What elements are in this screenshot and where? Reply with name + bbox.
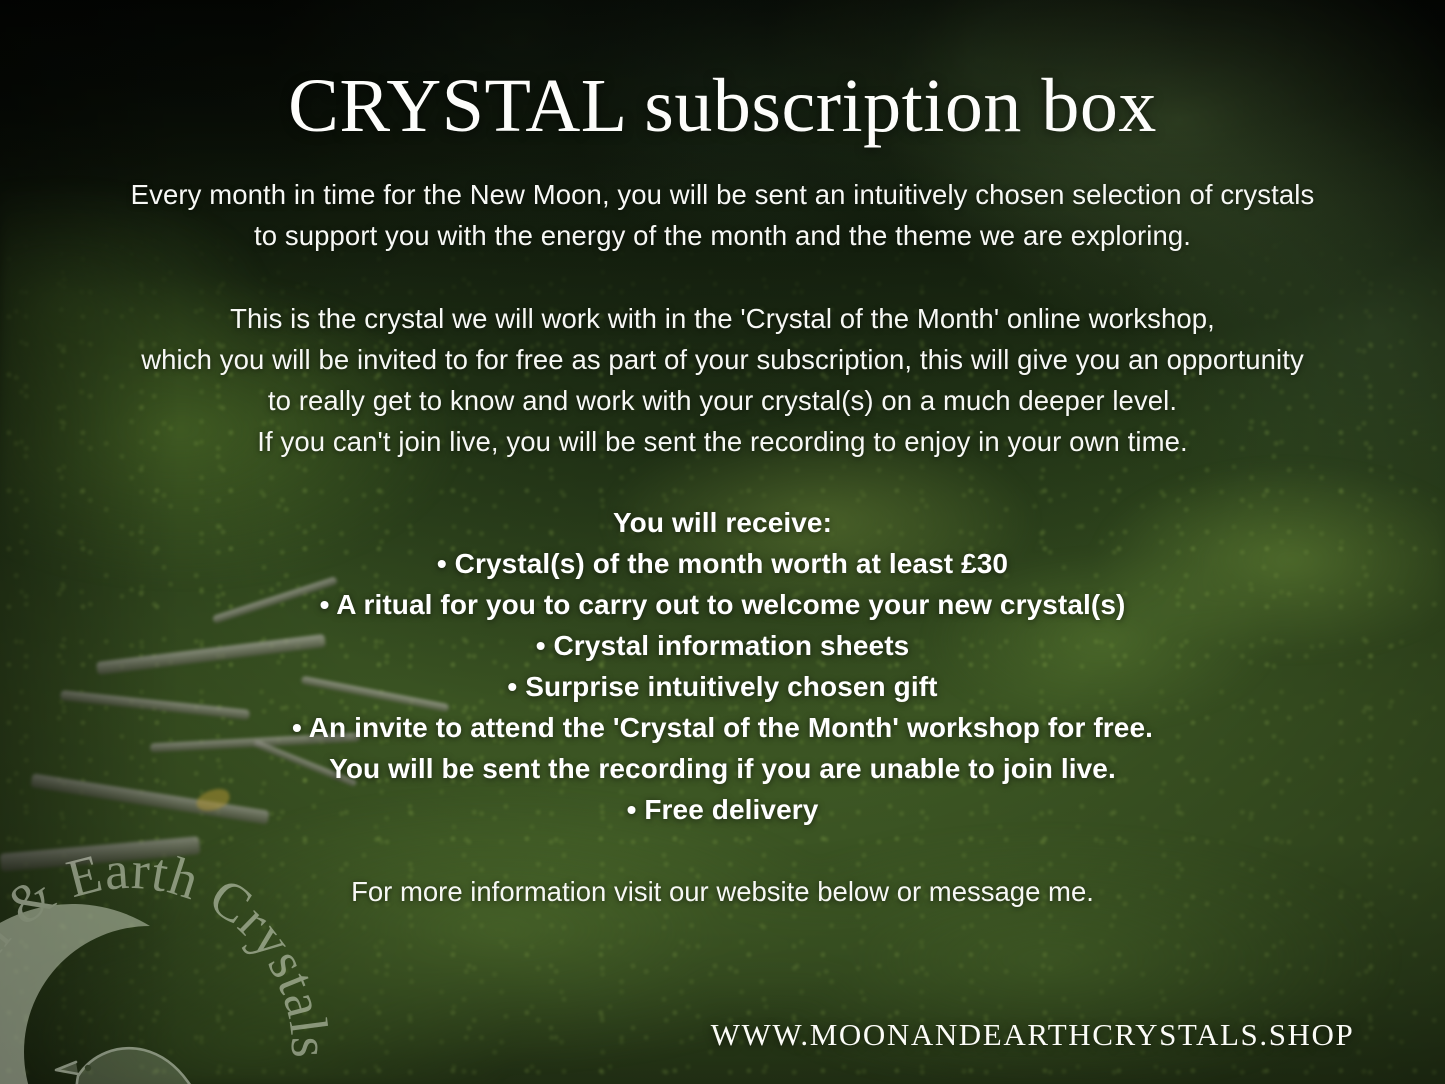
crystal-subscription-poster: Moon & Earth Crystals: [0, 0, 1445, 1084]
website-url[interactable]: WWW.MOONANDEARTHCRYSTALS.SHOP: [0, 1017, 1445, 1053]
you-will-receive-list: You will receive: • Crystal(s) of the mo…: [0, 502, 1445, 830]
more-information-note: For more information visit our website b…: [0, 872, 1445, 912]
website-url-text: WWW.MOONANDEARTHCRYSTALS.SHOP: [711, 1017, 1355, 1053]
workshop-paragraph: This is the crystal we will work with in…: [0, 298, 1445, 462]
poster-content: CRYSTAL subscription box Every month in …: [0, 0, 1445, 1084]
intro-paragraph: Every month in time for the New Moon, yo…: [0, 174, 1445, 256]
page-title: CRYSTAL subscription box: [0, 67, 1445, 147]
